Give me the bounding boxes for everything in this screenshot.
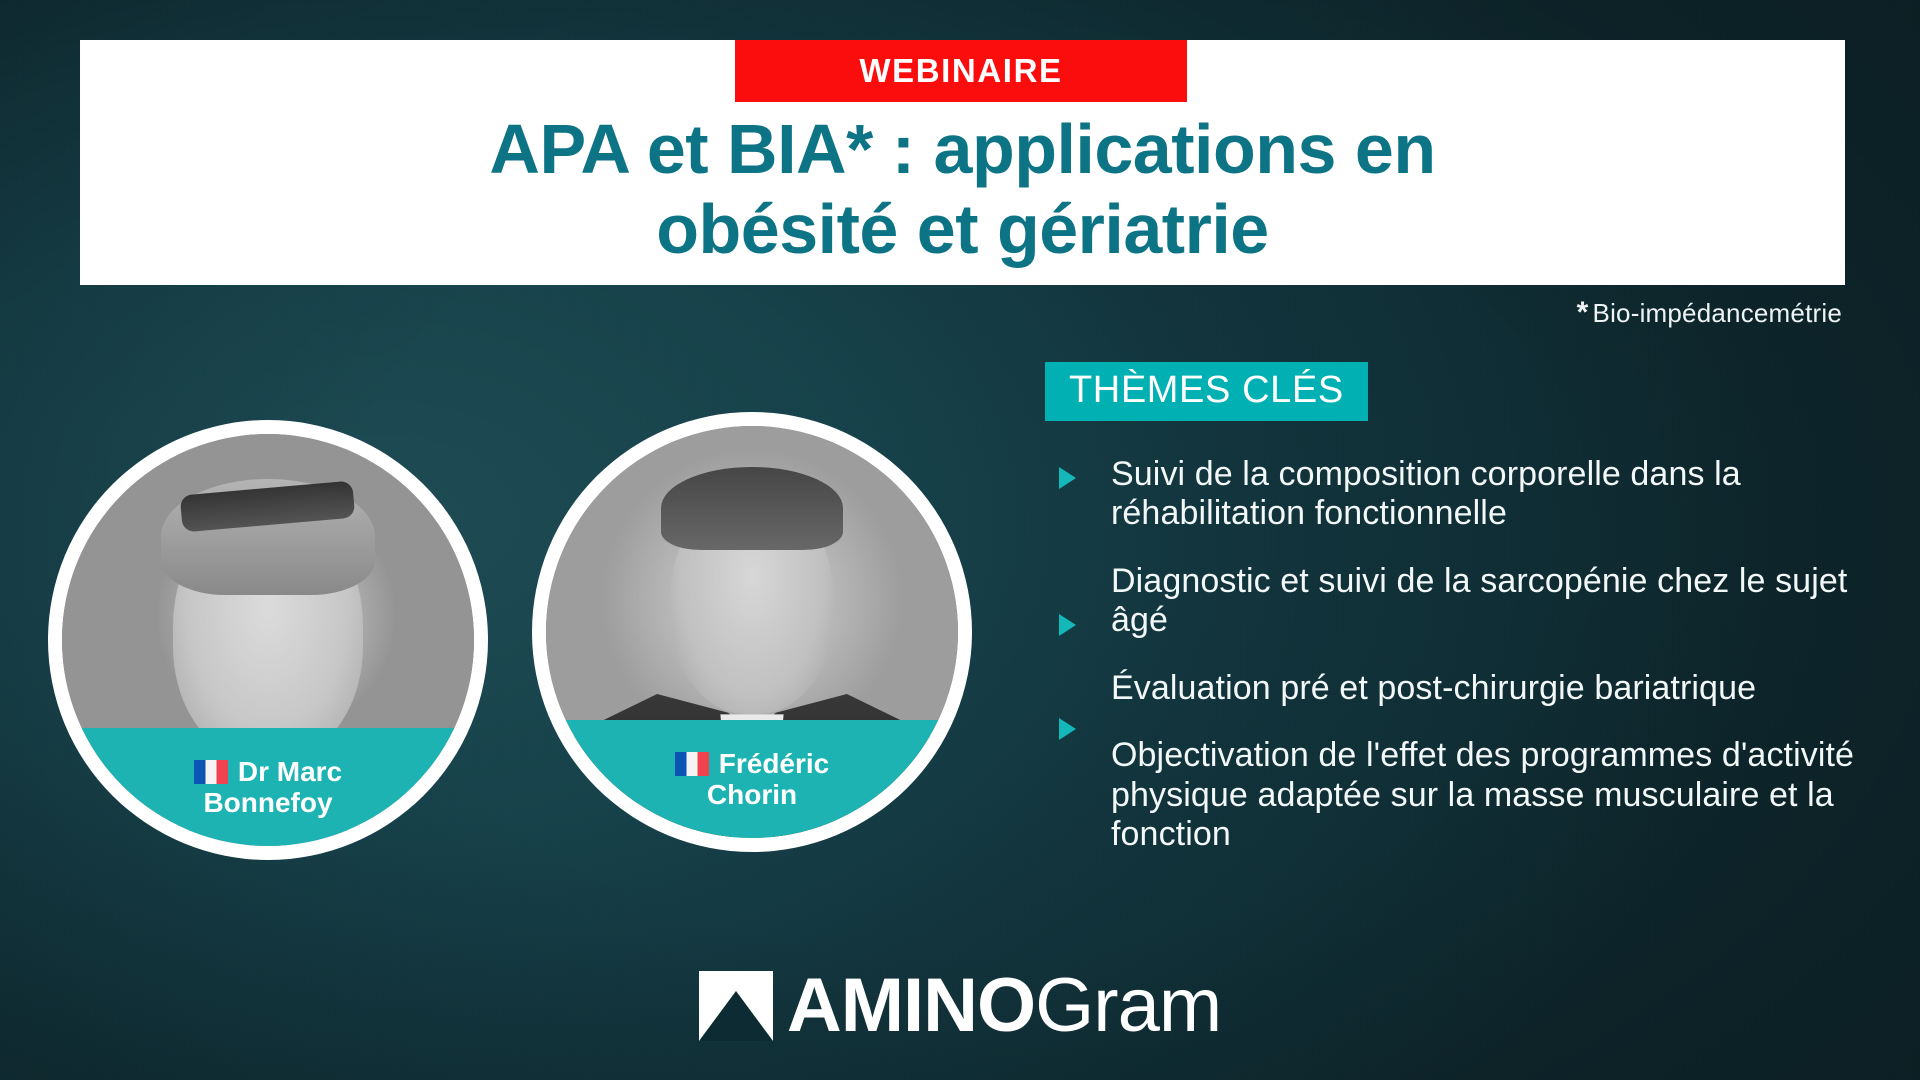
logo-text-gram: Gram bbox=[1035, 963, 1221, 1048]
footnote-asterisk: * bbox=[1577, 296, 1589, 329]
speaker-name-last-1: Bonnefoy bbox=[203, 787, 332, 818]
aminogram-logo: AMINOGram bbox=[0, 968, 1920, 1044]
theme-item-4: Objectivation de l'effet des programmes … bbox=[1045, 736, 1875, 854]
french-flag-icon bbox=[194, 760, 228, 784]
webinaire-badge: WEBINAIRE bbox=[735, 40, 1187, 102]
theme-item-1: Suivi de la composition corporelle dans … bbox=[1045, 455, 1875, 534]
webinar-slide: WEBINAIRE APA et BIA* : applications en … bbox=[0, 0, 1920, 1080]
themes-panel: THÈMES CLÉS Suivi de la composition corp… bbox=[1045, 362, 1875, 883]
aminogram-mark-icon bbox=[699, 971, 773, 1041]
speaker-photo-2-hair bbox=[661, 467, 842, 549]
speaker-card-1: Dr Marc Bonnefoy bbox=[48, 420, 488, 860]
speaker-name-line-1a: Dr Marc bbox=[194, 756, 342, 787]
aminogram-wordmark: AMINOGram bbox=[787, 968, 1221, 1044]
speaker-name-band-2: Frédéric Chorin bbox=[546, 720, 958, 838]
speaker-name-band-1: Dr Marc Bonnefoy bbox=[62, 728, 474, 846]
theme-item-4-text: Objectivation de l'effet des programmes … bbox=[1111, 736, 1854, 853]
speaker-name-line-2a: Frédéric bbox=[675, 748, 830, 779]
footnote-text: Bio-impédancemétrie bbox=[1593, 298, 1842, 328]
footnote: *Bio-impédancemétrie bbox=[1577, 296, 1842, 330]
french-flag-icon bbox=[675, 752, 709, 776]
theme-item-2-text: Diagnostic et suivi de la sarcopénie che… bbox=[1111, 562, 1847, 639]
speaker-photo-disc-1: Dr Marc Bonnefoy bbox=[62, 434, 474, 846]
theme-item-3: Évaluation pré et post-chirurgie bariatr… bbox=[1045, 669, 1875, 708]
themes-badge: THÈMES CLÉS bbox=[1045, 362, 1368, 421]
speaker-name-first-1: Dr Marc bbox=[238, 756, 342, 787]
bullet-triangle-icon bbox=[1059, 718, 1076, 740]
page-title: APA et BIA* : applications en obésité et… bbox=[80, 110, 1845, 270]
theme-item-1-text: Suivi de la composition corporelle dans … bbox=[1111, 455, 1741, 532]
bullet-triangle-icon bbox=[1059, 467, 1076, 489]
speaker-card-2: Frédéric Chorin bbox=[532, 412, 972, 852]
speaker-photo-disc-2: Frédéric Chorin bbox=[546, 426, 958, 838]
bullet-triangle-icon bbox=[1059, 614, 1076, 636]
page-title-line-1: APA et BIA* : applications en bbox=[80, 110, 1845, 190]
themes-list: Suivi de la composition corporelle dans … bbox=[1045, 455, 1875, 855]
theme-item-3-text: Évaluation pré et post-chirurgie bariatr… bbox=[1111, 669, 1756, 707]
speaker-name-first-2: Frédéric bbox=[719, 748, 830, 779]
page-title-line-2: obésité et gériatrie bbox=[80, 190, 1845, 270]
theme-item-2: Diagnostic et suivi de la sarcopénie che… bbox=[1045, 562, 1875, 641]
speaker-name-last-2: Chorin bbox=[707, 779, 797, 810]
logo-text-amino: AMINO bbox=[787, 963, 1035, 1048]
